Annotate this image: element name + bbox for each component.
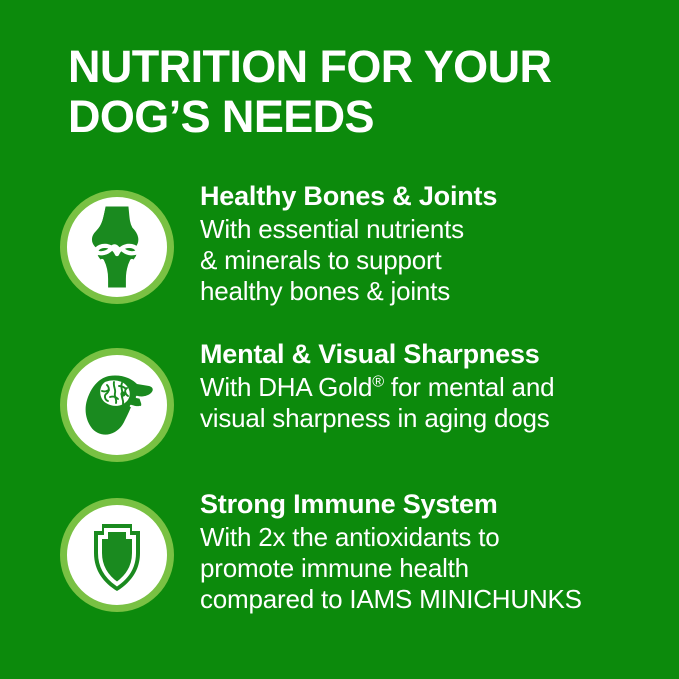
feature-list: Healthy Bones & Joints With essential nu…: [0, 176, 679, 644]
icon-circle-badge: [60, 498, 174, 612]
bone-joint-icon: [80, 205, 154, 289]
feature-heading: Mental & Visual Sharpness: [200, 338, 554, 371]
feature-heading: Healthy Bones & Joints: [200, 180, 497, 213]
feature-text-block: Strong Immune System With 2x the antioxi…: [180, 484, 582, 615]
feature-heading: Strong Immune System: [200, 488, 582, 521]
feature-body: With DHA Gold® for mental and visual sha…: [200, 372, 554, 434]
feature-body: With 2x the antioxidants to promote immu…: [200, 522, 582, 615]
feature-item-healthy-bones-joints: Healthy Bones & Joints With essential nu…: [0, 176, 679, 334]
nutrition-benefits-panel: NUTRITION FOR YOUR DOG’S NEEDS: [0, 0, 679, 679]
feature-text-block: Mental & Visual Sharpness With DHA Gold®…: [180, 334, 554, 434]
dog-head-brain-icon: [79, 374, 155, 436]
feature-icon-wrapper: [60, 334, 180, 462]
feature-item-strong-immune-system: Strong Immune System With 2x the antioxi…: [0, 484, 679, 644]
feature-body: With essential nutrients & minerals to s…: [200, 214, 497, 307]
feature-item-mental-visual-sharpness: Mental & Visual Sharpness With DHA Gold®…: [0, 334, 679, 484]
feature-text-block: Healthy Bones & Joints With essential nu…: [180, 176, 497, 307]
registered-trademark-symbol: ®: [372, 372, 384, 390]
shield-icon: [80, 515, 154, 595]
icon-circle-badge: [60, 190, 174, 304]
feature-icon-wrapper: [60, 176, 180, 304]
page-title: NUTRITION FOR YOUR DOG’S NEEDS: [68, 42, 628, 142]
feature-icon-wrapper: [60, 484, 180, 612]
icon-circle-badge: [60, 348, 174, 462]
feature-body-prefix: With DHA Gold: [200, 372, 372, 402]
